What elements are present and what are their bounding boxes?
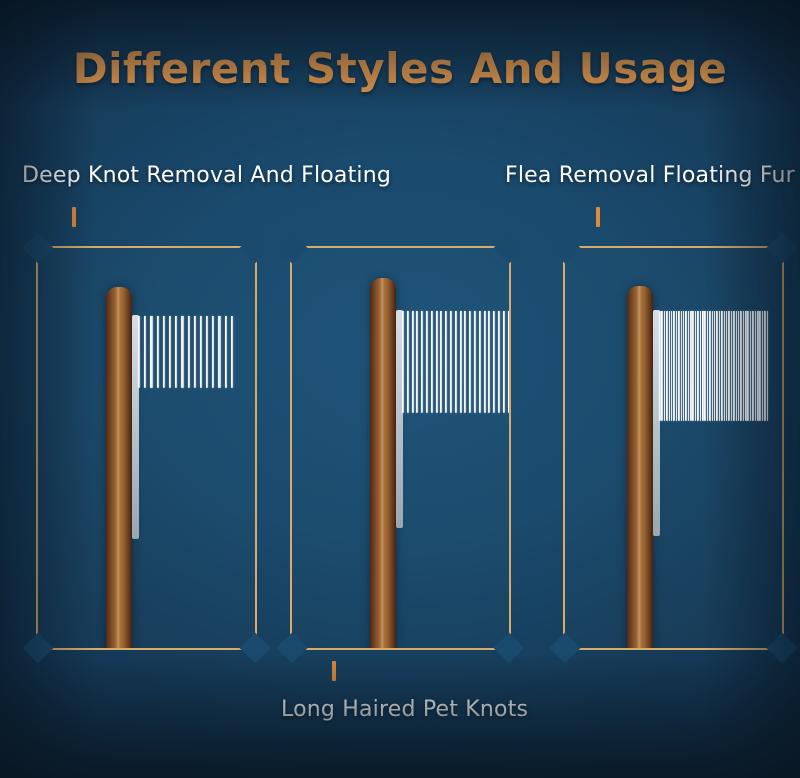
comb-pin <box>138 316 140 388</box>
comb-pin <box>752 311 754 421</box>
product-poster: Different Styles And Usage Deep Knot Rem… <box>0 0 800 778</box>
comb-pin <box>150 316 152 388</box>
comb-pin <box>767 311 769 421</box>
comb-pin <box>740 311 742 421</box>
comb-pin <box>743 311 745 421</box>
comb-pin <box>661 311 663 421</box>
comb-handle <box>106 287 132 648</box>
comb-pin <box>445 311 447 413</box>
comb-pin <box>724 311 726 421</box>
comb-pin <box>707 311 709 421</box>
panel-deep-knot-removal <box>36 246 257 650</box>
wooden-handle-comb-fine-tooth <box>565 248 782 648</box>
comb-handle <box>627 286 653 648</box>
wooden-handle-comb-medium-tooth <box>292 248 509 648</box>
comb-pin <box>747 311 749 421</box>
comb-pins <box>659 311 769 421</box>
wooden-handle-comb-wide-tooth <box>38 248 255 648</box>
comb-pin <box>712 311 714 421</box>
comb-pin <box>676 311 678 421</box>
comb-pin <box>421 311 423 413</box>
comb-pin <box>671 311 673 421</box>
panel-flea-removal-floating-fur <box>563 246 784 650</box>
comb-pin <box>664 311 666 421</box>
comb-pin <box>450 311 452 413</box>
comb-pin <box>678 311 680 421</box>
comb-pin <box>503 311 505 413</box>
comb-pin <box>714 311 716 421</box>
comb-pin <box>726 311 728 421</box>
comb-pin <box>218 316 220 388</box>
comb-pin <box>700 311 702 421</box>
handle-highlight <box>380 278 384 648</box>
comb-pin <box>144 316 146 388</box>
comb-pin <box>412 311 414 413</box>
comb-pin <box>736 311 738 421</box>
comb-pin <box>163 316 165 388</box>
comb-pin <box>738 311 740 421</box>
comb-pin <box>731 311 733 421</box>
tick-marker-left <box>72 207 76 227</box>
comb-pin <box>683 311 685 421</box>
comb-pin <box>194 316 196 388</box>
comb-pin <box>695 311 697 421</box>
comb-pin <box>688 311 690 421</box>
comb-pin <box>759 311 761 421</box>
comb-pin <box>436 311 438 413</box>
comb-pin <box>716 311 718 421</box>
handle-highlight <box>116 287 120 648</box>
comb-pin <box>709 311 711 421</box>
comb-pin <box>464 311 466 413</box>
comb-pin <box>175 316 177 388</box>
comb-pin <box>762 311 764 421</box>
comb-pin <box>697 311 699 421</box>
comb-pin <box>206 316 208 388</box>
handle-highlight <box>637 286 641 648</box>
comb-pin <box>733 311 735 421</box>
comb-handle <box>370 278 396 648</box>
comb-pin <box>225 316 227 388</box>
comb-pin <box>460 311 462 413</box>
comb-pin <box>728 311 730 421</box>
comb-pin <box>474 311 476 413</box>
caption-long-haired-knots: Long Haired Pet Knots <box>281 697 528 722</box>
comb-pin <box>469 311 471 413</box>
comb-pin <box>493 311 495 413</box>
comb-pin <box>681 311 683 421</box>
comb-pin <box>181 316 183 388</box>
comb-pin <box>188 316 190 388</box>
comb-pin <box>669 311 671 421</box>
tick-marker-bottom <box>332 661 336 681</box>
comb-pin <box>479 311 481 413</box>
comb-pin <box>764 311 766 421</box>
comb-pin <box>757 311 759 421</box>
comb-pin <box>440 311 442 413</box>
comb-pin <box>157 316 159 388</box>
comb-pin <box>231 316 233 388</box>
comb-pin <box>416 311 418 413</box>
comb-pin <box>431 311 433 413</box>
comb-pin <box>704 311 706 421</box>
comb-pin <box>692 311 694 421</box>
tick-marker-right <box>596 207 600 227</box>
comb-pin <box>659 311 661 421</box>
comb-pin <box>755 311 757 421</box>
comb-pin <box>702 311 704 421</box>
comb-pin <box>666 311 668 421</box>
caption-deep-knot-removal: Deep Knot Removal And Floating <box>22 163 391 188</box>
comb-pin <box>426 311 428 413</box>
comb-pin <box>685 311 687 421</box>
panel-long-haired-pet-knots <box>290 246 511 650</box>
comb-pin <box>407 311 409 413</box>
comb-pin <box>690 311 692 421</box>
page-title: Different Styles And Usage <box>0 44 800 93</box>
comb-pin <box>721 311 723 421</box>
comb-pin <box>200 316 202 388</box>
comb-pin <box>488 311 490 413</box>
comb-pin <box>484 311 486 413</box>
comb-pin <box>455 311 457 413</box>
comb-pins <box>402 311 509 413</box>
comb-pin <box>673 311 675 421</box>
comb-pin <box>402 311 404 413</box>
comb-pin <box>508 311 509 413</box>
comb-pin <box>212 316 214 388</box>
comb-pin <box>745 311 747 421</box>
comb-pin <box>169 316 171 388</box>
comb-pins <box>138 316 237 388</box>
caption-flea-removal: Flea Removal Floating Fur <box>505 163 795 188</box>
comb-pin <box>719 311 721 421</box>
comb-pin <box>750 311 752 421</box>
comb-pin <box>498 311 500 413</box>
